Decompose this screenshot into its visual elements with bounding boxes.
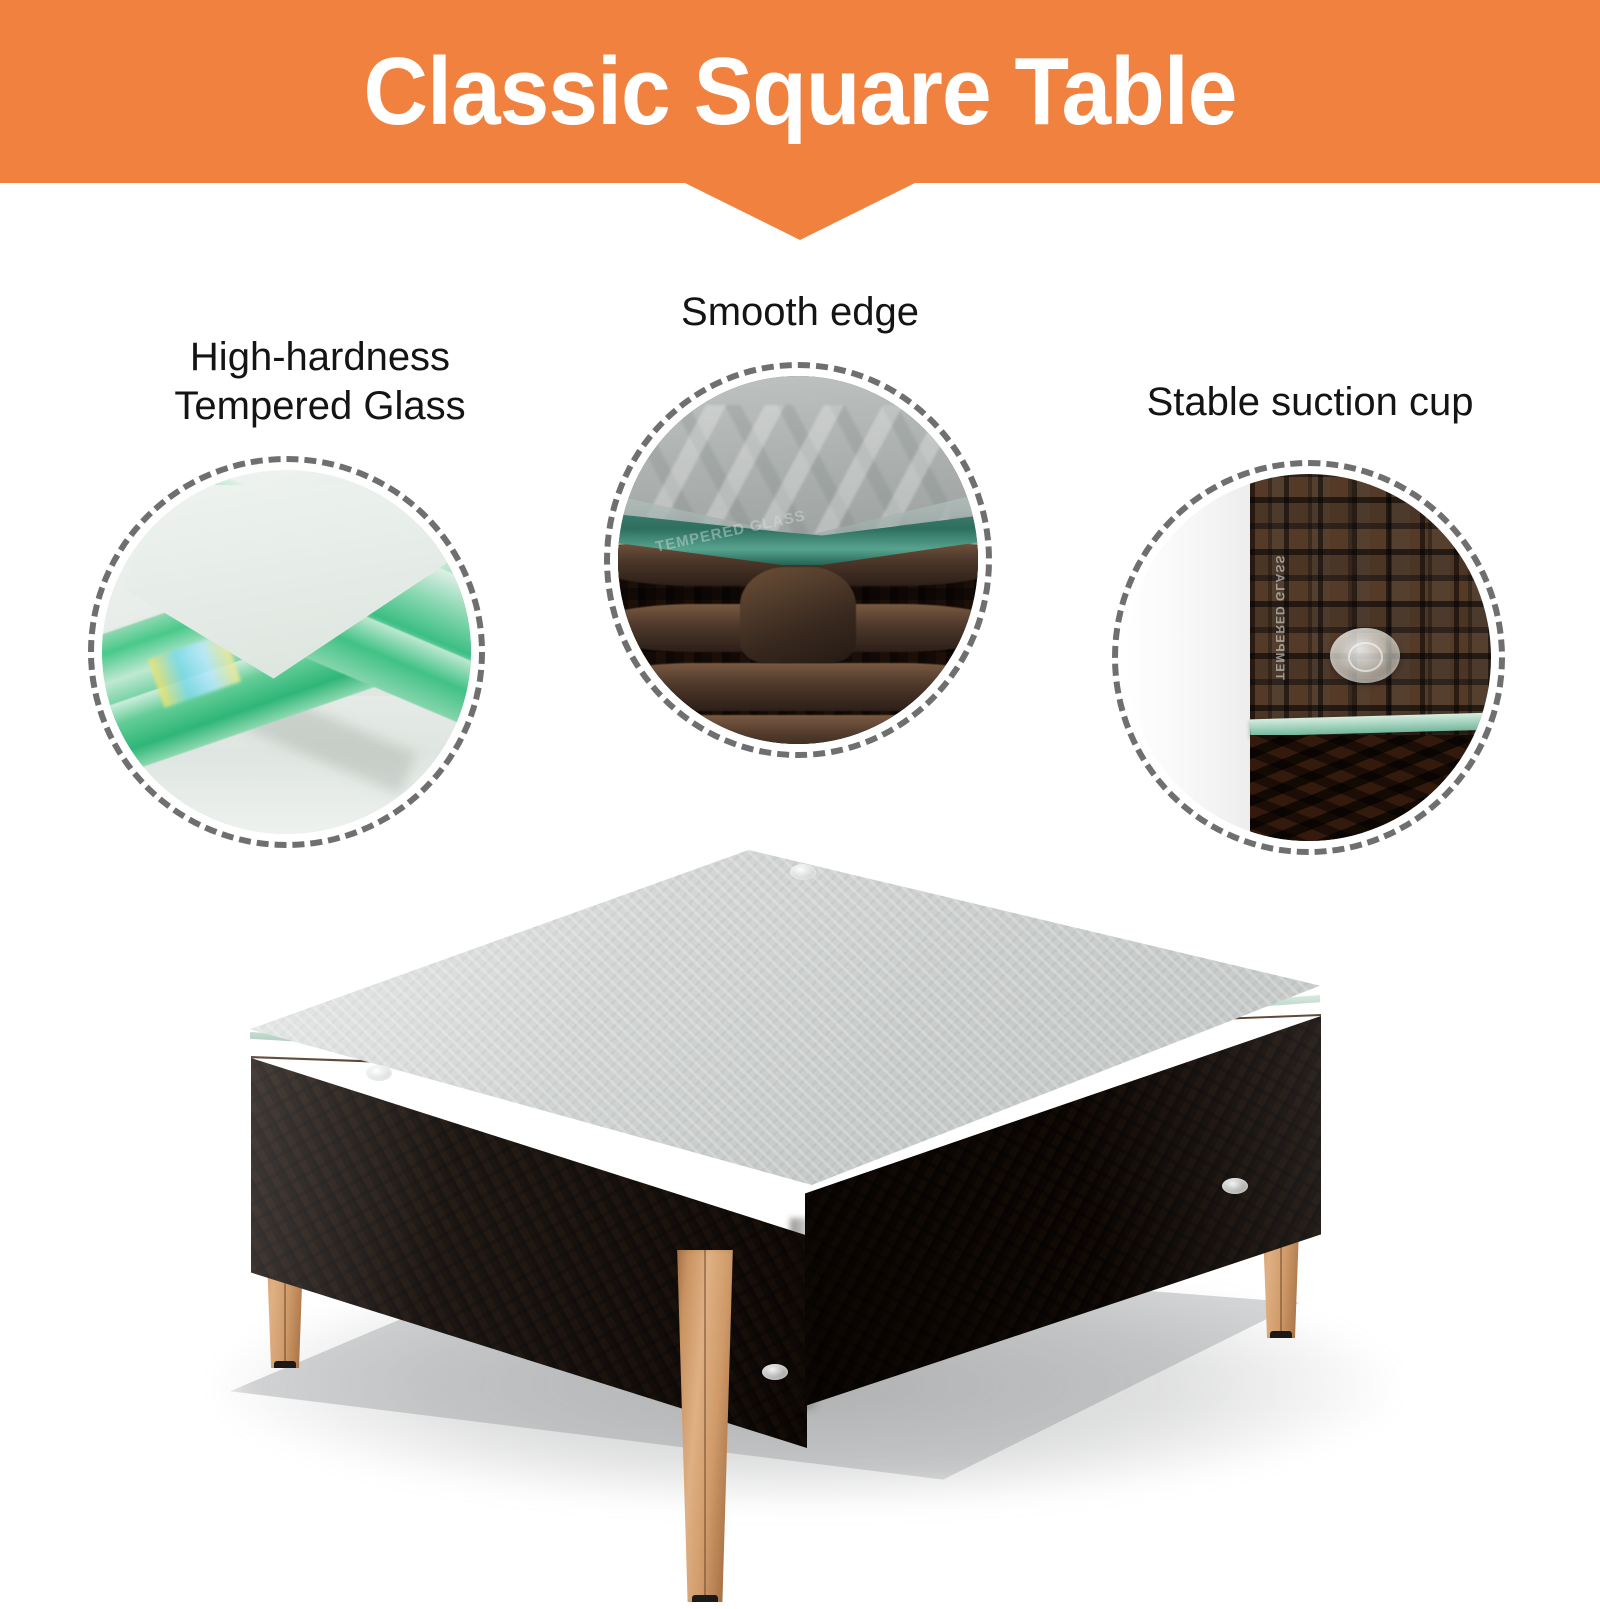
wicker-rail-3: [618, 663, 978, 711]
wicker-rail-4: [618, 715, 978, 744]
feature-circle-suction-cup: TEMPERED GLASS: [1112, 460, 1505, 855]
feature-label-suction-cup: Stable suction cup: [1090, 378, 1530, 427]
leg-foot-cap: [1270, 1331, 1292, 1345]
feature-label-smooth-edge: Smooth edge: [585, 288, 1015, 337]
photo-tempered-glass-stack: [102, 470, 471, 834]
suction-photo-watermark: TEMPERED GLASS: [1273, 554, 1287, 679]
leg-seam: [704, 1250, 706, 1602]
product-square-table: [0, 820, 1600, 1600]
tabletop-suction-cup-1: [790, 864, 816, 880]
photo-glass-corner-on-wicker: TEMPERED GLASS: [618, 376, 978, 744]
feature-photo-frame-suction-cup: TEMPERED GLASS: [1126, 474, 1491, 841]
infographic-canvas: Classic Square Table High-hardness Tempe…: [0, 0, 1600, 1600]
table-leg-front: [676, 1250, 734, 1602]
feature-circle-smooth-edge: TEMPERED GLASS: [604, 362, 992, 758]
leg-foot-cap: [692, 1595, 718, 1609]
leg-foot-cap: [274, 1361, 296, 1375]
feature-label-tempered-glass: High-hardness Tempered Glass: [60, 333, 580, 431]
tabletop-suction-cup-4: [762, 1364, 788, 1380]
page-title: Classic Square Table: [56, 0, 1544, 183]
table-frame-front-corner: [790, 1218, 820, 1410]
tabletop-suction-cup-3: [366, 1065, 392, 1081]
photo-white-background-strip: [1126, 474, 1250, 841]
banner-pointer-arrow-icon: [685, 183, 915, 240]
feature-photo-frame-smooth-edge: TEMPERED GLASS: [618, 376, 978, 744]
feature-circle-tempered-glass: [88, 456, 485, 848]
feature-photo-frame-tempered-glass: [102, 470, 471, 834]
wicker-corner-post: [740, 567, 855, 663]
photo-suction-cup-on-wicker: TEMPERED GLASS: [1126, 474, 1491, 841]
tabletop-suction-cup-2: [1222, 1178, 1248, 1194]
table-assembly: [0, 820, 1600, 1600]
suction-cup-icon: [1330, 628, 1399, 683]
